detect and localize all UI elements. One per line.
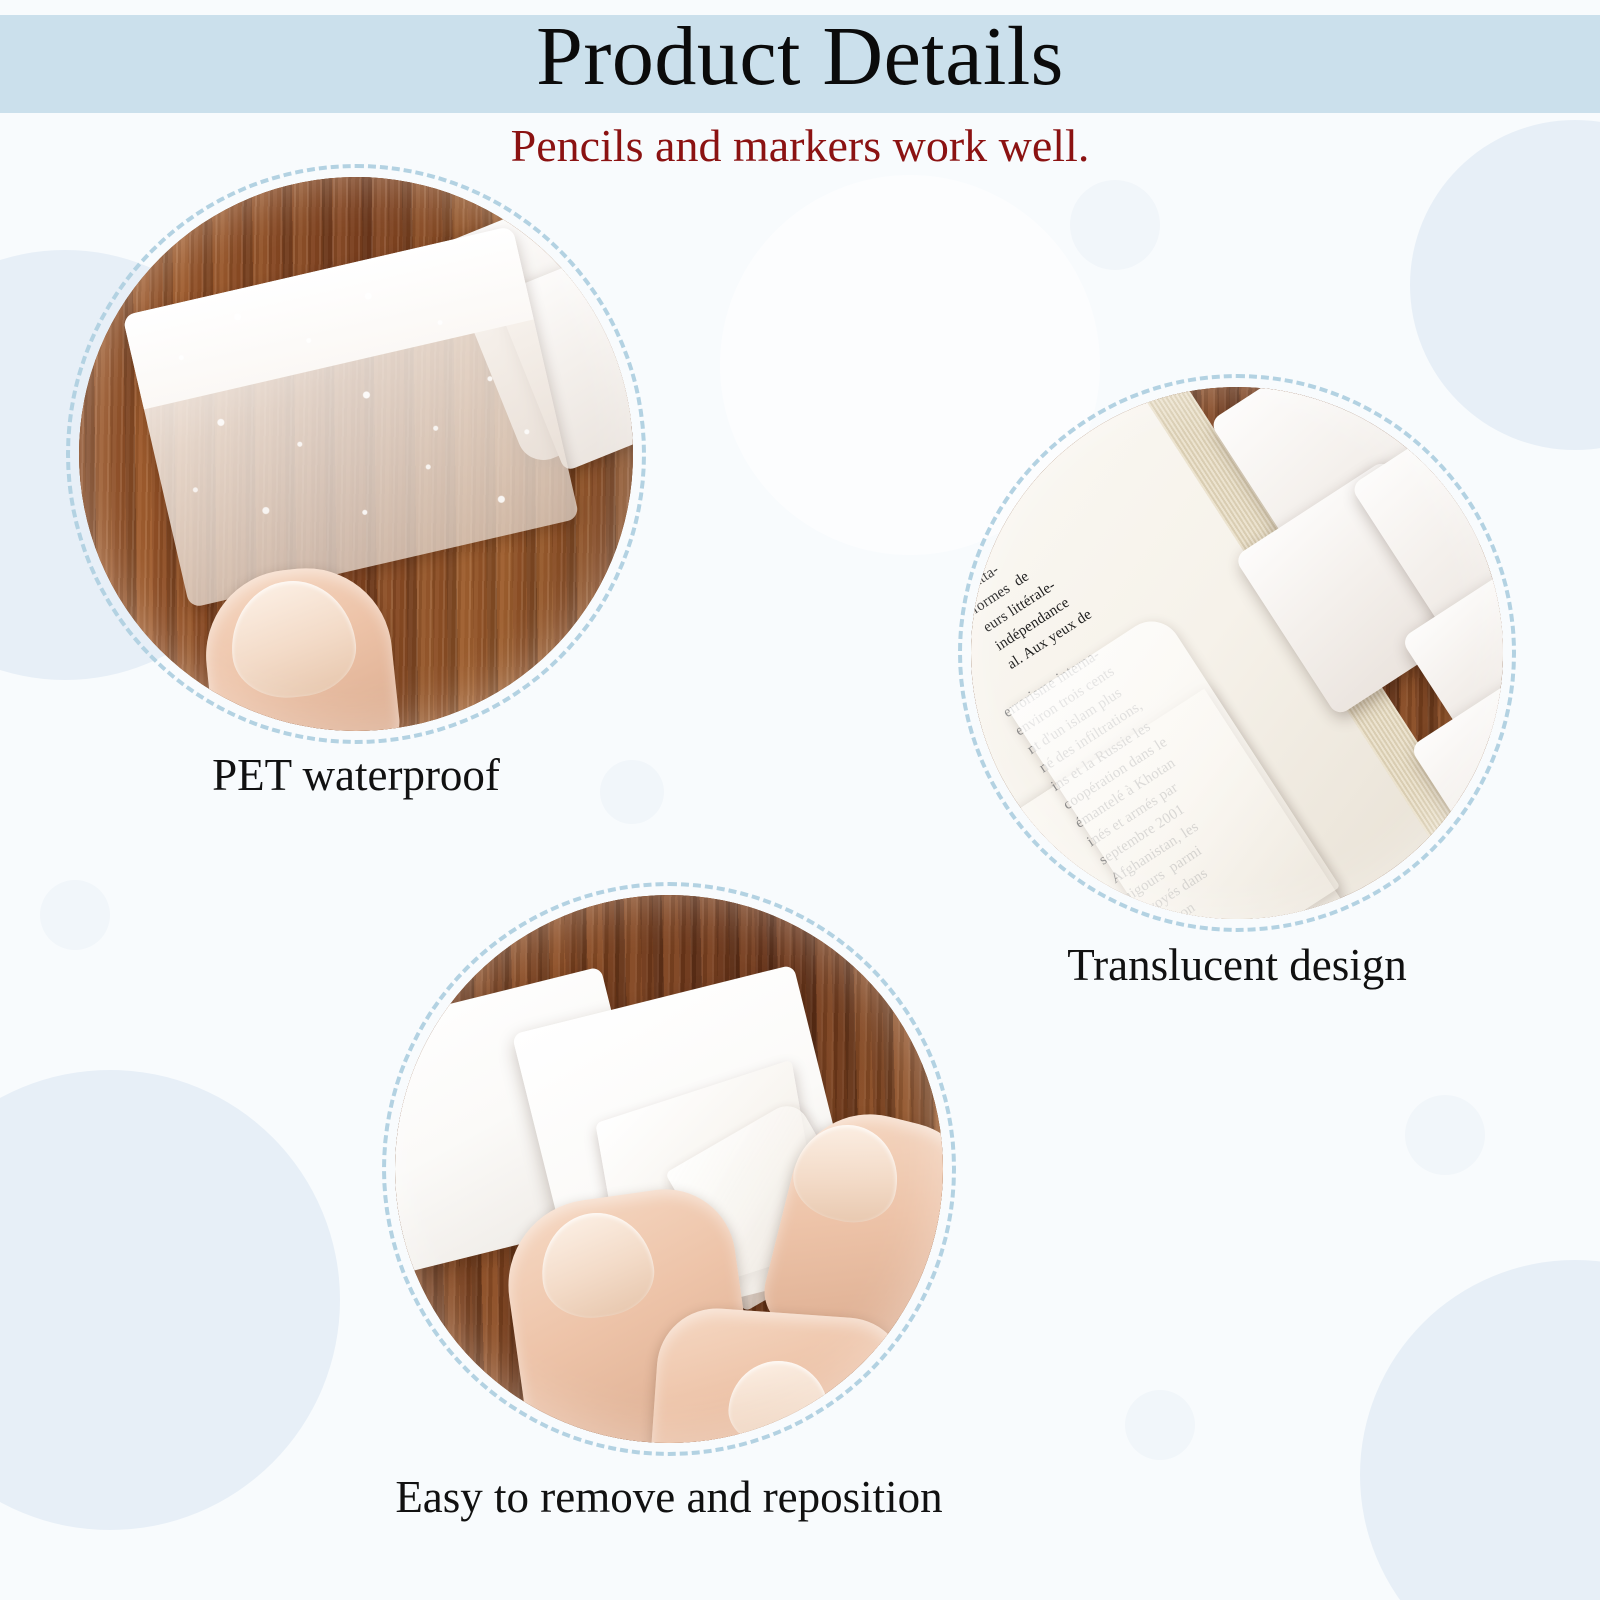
- bg-bubble-bottom-right: [1360, 1260, 1600, 1600]
- caption-easy-remove: Easy to remove and reposition: [319, 1470, 1019, 1524]
- page-title: Product Details: [0, 10, 1600, 104]
- photo-ring-1: [66, 164, 646, 744]
- feature-photo-3: [395, 895, 943, 1443]
- caption-translucent-design: Translucent design: [958, 938, 1516, 992]
- feature-photo-2: é ratta-formes deeurs littérale-indépend…: [971, 387, 1503, 919]
- bg-bubble-small-d: [1070, 180, 1160, 270]
- photo-ring-3: [382, 882, 956, 1456]
- bg-bubble-small-c: [40, 880, 110, 950]
- bg-bubble-left-lower: [0, 1070, 340, 1530]
- caption-pet-waterproof: PET waterproof: [66, 748, 646, 802]
- bg-bubble-small-a: [1405, 1095, 1485, 1175]
- page-subtitle: Pencils and markers work well.: [0, 118, 1600, 174]
- bg-bubble-small-b: [1125, 1390, 1195, 1460]
- feature-photo-1: [79, 177, 633, 731]
- photo-ring-2: é ratta-formes deeurs littérale-indépend…: [958, 374, 1516, 932]
